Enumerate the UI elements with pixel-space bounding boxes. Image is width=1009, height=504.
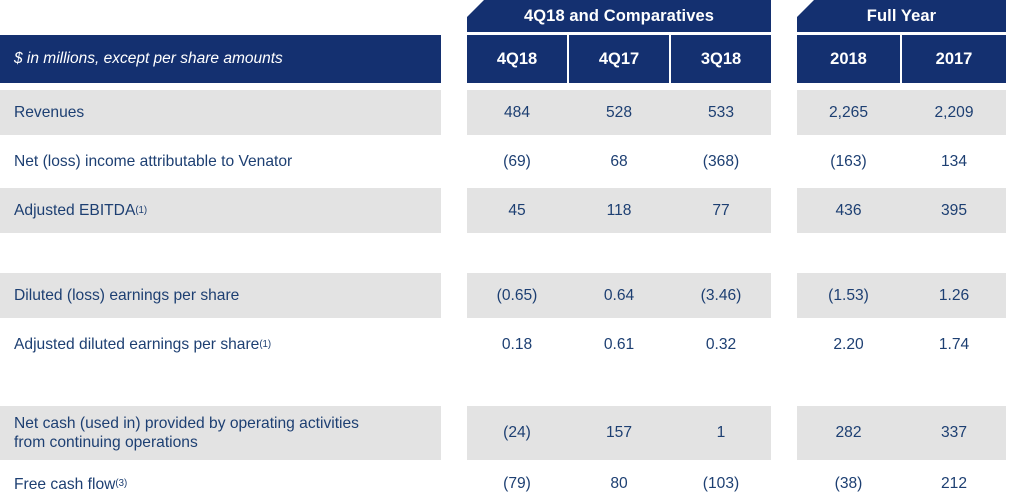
cell-free-cash-flow-4q17: 80 [569,464,669,504]
cell-adj-diluted-eps-4q18: 0.18 [467,322,567,367]
row-label-net-loss-income: Net (loss) income attributable to Venato… [14,139,434,184]
cell-revenues-3q18: 533 [671,90,771,135]
cell-diluted-eps-2018: (1.53) [797,273,900,318]
cell-net-income-4q18: (69) [467,139,567,184]
cell-diluted-eps-4q18: (0.65) [467,273,567,318]
cell-operating-cash-3q18: 1 [671,406,771,460]
row-label-diluted-eps: Diluted (loss) earnings per share [14,273,434,318]
column-group-title-full-year: Full Year [797,0,1006,32]
cell-free-cash-flow-2018: (38) [797,464,900,504]
cell-net-income-2018: (163) [797,139,900,184]
cell-revenues-2018: 2,265 [797,90,900,135]
stub-header: $ in millions, except per share amounts [0,35,441,83]
cell-ebitda-3q18: 77 [671,188,771,233]
cell-diluted-eps-3q18: (3.46) [671,273,771,318]
cell-net-income-4q17: 68 [569,139,669,184]
cell-diluted-eps-2017: 1.26 [902,273,1006,318]
cell-net-income-3q18: (368) [671,139,771,184]
cell-diluted-eps-4q17: 0.64 [569,273,669,318]
cell-adj-diluted-eps-2017: 1.74 [902,322,1006,367]
cell-free-cash-flow-4q18: (79) [467,464,567,504]
cell-adj-diluted-eps-3q18: 0.32 [671,322,771,367]
financial-summary-table: 4Q18 and Comparatives Full Year $ in mil… [0,0,1009,504]
cell-adj-diluted-eps-4q17: 0.61 [569,322,669,367]
column-header-3q18: 3Q18 [671,35,771,83]
cell-ebitda-4q18: 45 [467,188,567,233]
cell-operating-cash-4q18: (24) [467,406,567,460]
cell-revenues-4q17: 528 [569,90,669,135]
cell-operating-cash-2017: 337 [902,406,1006,460]
row-label-adjusted-diluted-eps: Adjusted diluted earnings per share(1) [14,322,434,367]
row-label-free-cash-flow: Free cash flow(3) [14,464,434,504]
cell-ebitda-2017: 395 [902,188,1006,233]
cell-ebitda-2018: 436 [797,188,900,233]
column-header-2017: 2017 [902,35,1006,83]
row-label-revenues: Revenues [14,90,434,135]
cell-free-cash-flow-2017: 212 [902,464,1006,504]
cell-adj-diluted-eps-2018: 2.20 [797,322,900,367]
cell-ebitda-4q17: 118 [569,188,669,233]
cell-operating-cash-4q17: 157 [569,406,669,460]
cell-revenues-2017: 2,209 [902,90,1006,135]
cell-net-income-2017: 134 [902,139,1006,184]
row-label-adjusted-ebitda: Adjusted EBITDA(1) [14,188,434,233]
column-group-title-comparatives: 4Q18 and Comparatives [467,0,771,32]
column-header-2018: 2018 [797,35,900,83]
column-header-4q18: 4Q18 [467,35,567,83]
column-header-4q17: 4Q17 [569,35,669,83]
cell-operating-cash-2018: 282 [797,406,900,460]
cell-revenues-4q18: 484 [467,90,567,135]
cell-free-cash-flow-3q18: (103) [671,464,771,504]
row-label-net-cash-operating: Net cash (used in) provided by operating… [14,406,384,460]
